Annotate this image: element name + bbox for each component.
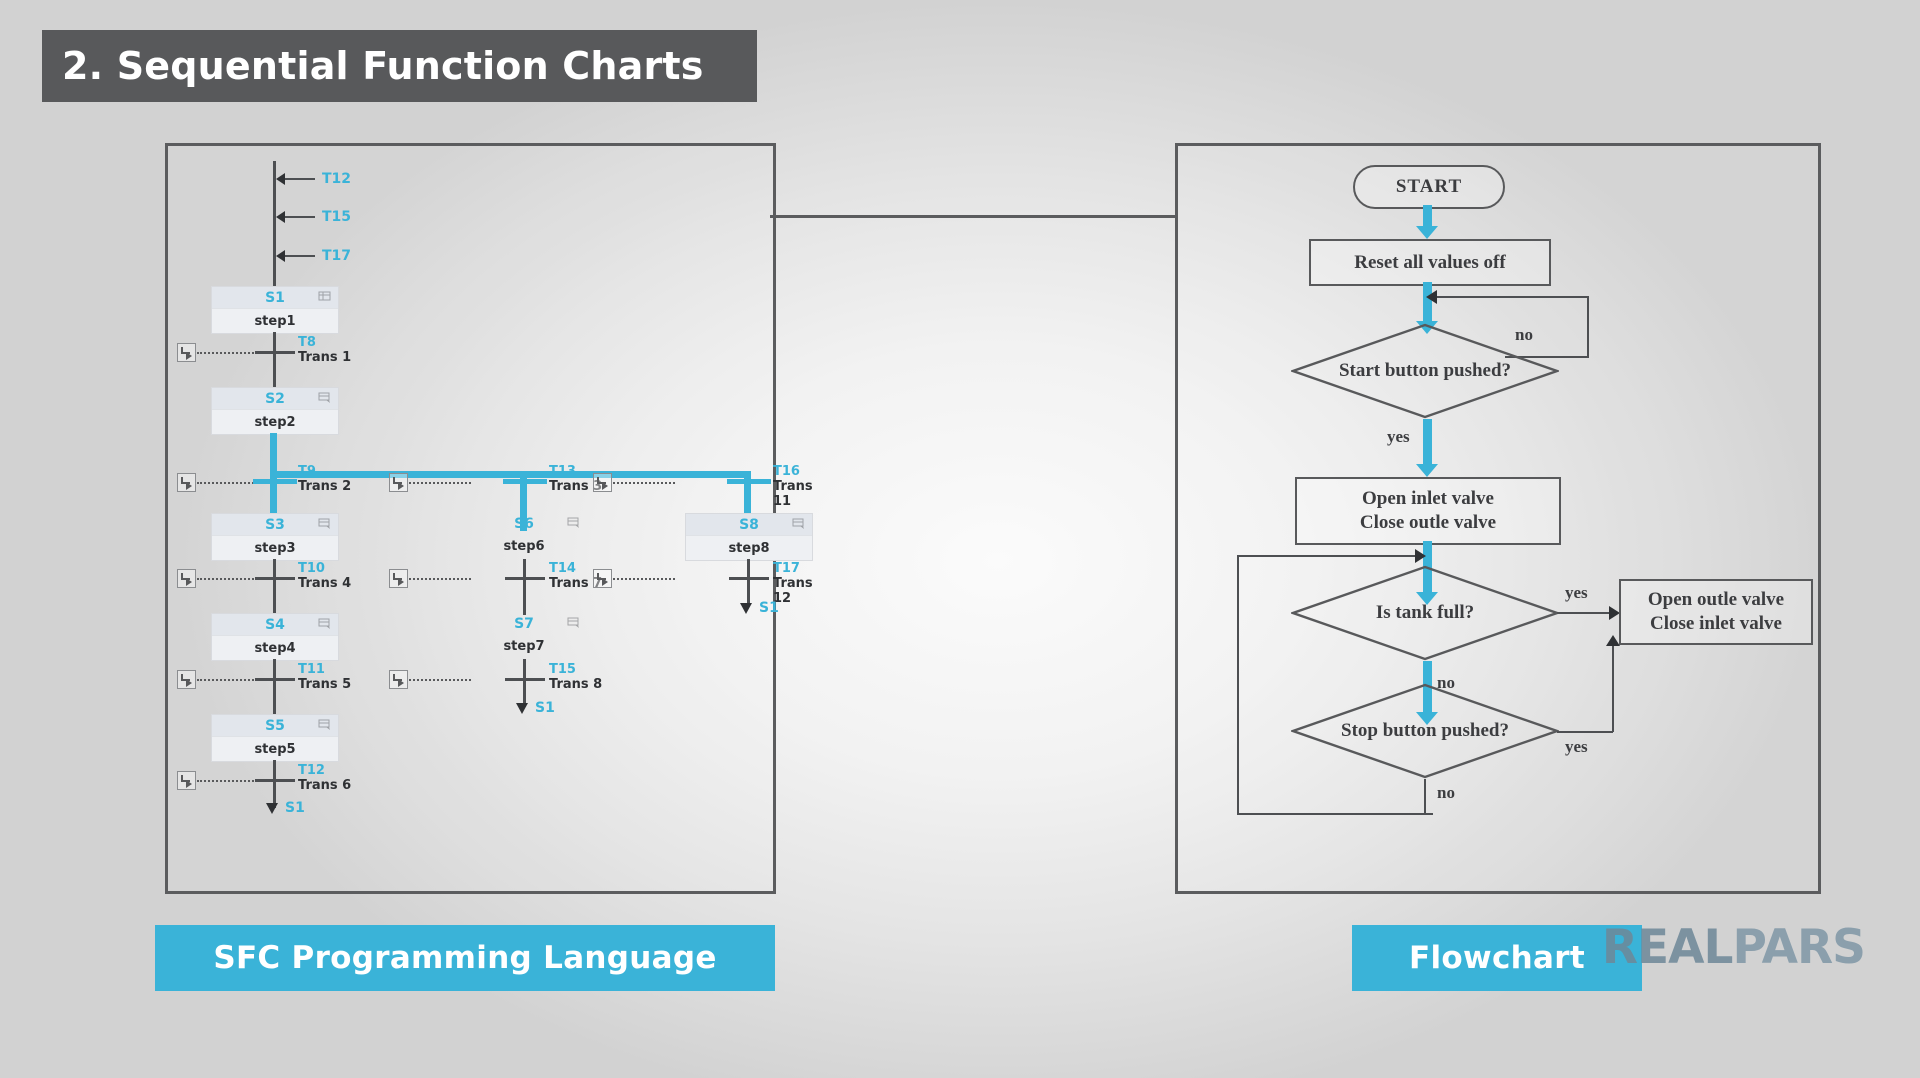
step-id: S6	[514, 516, 534, 532]
sfc-incoming-T17: T17	[276, 248, 351, 264]
sfc-step-S7[interactable]: S7 step7	[461, 613, 587, 658]
arrow-head-icon	[276, 211, 285, 223]
transition-label-T12: T12 Trans 6	[298, 764, 351, 793]
node-label: Reset all values off	[1354, 251, 1505, 275]
step-body: step4	[212, 635, 338, 660]
step-name: step1	[254, 314, 295, 329]
step-header: S2	[212, 388, 338, 409]
flow-node-open-outlet[interactable]: Open outle valve Close inlet valve	[1619, 579, 1813, 645]
step-id: S5	[265, 718, 285, 734]
sfc-incoming-T12: T12	[276, 171, 351, 187]
sfc-step-S1[interactable]: S1 step1	[211, 286, 339, 334]
transition-code: T16	[773, 465, 813, 479]
sfc-step-S8[interactable]: S8 step8	[685, 513, 813, 561]
transition-name: Trans 6	[298, 778, 351, 793]
flow-arrow-start-to-reset	[1423, 205, 1432, 227]
node-label: START	[1396, 176, 1462, 198]
transition-code: T12	[298, 764, 351, 778]
panel-connector-line	[770, 215, 1178, 218]
transition-label-T17: T17 Trans 12	[773, 562, 813, 606]
arrow-down-icon	[740, 603, 752, 614]
sfc-rail-t8-s2	[273, 352, 276, 389]
transition-bar-T16	[727, 479, 771, 484]
sfc-rail-t11-s5	[273, 679, 276, 716]
realpars-logo: REALPARS	[1602, 920, 1865, 975]
transition-condition-line	[613, 482, 675, 484]
transition-code: T11	[298, 663, 351, 677]
flow-edge-stopbtn-no-v	[1424, 779, 1426, 815]
sfc-rail-t10-s4	[273, 578, 276, 615]
sfc-step-S5[interactable]: S5 step5	[211, 714, 339, 762]
step-header: S1	[212, 287, 338, 308]
transition-condition-line	[409, 482, 471, 484]
edge-label-stopbtn-yes: yes	[1565, 737, 1588, 757]
transition-code: T17	[773, 562, 813, 576]
step-header: S3	[212, 514, 338, 535]
step-name: step2	[254, 415, 295, 430]
incoming-transition-label: T12	[322, 171, 351, 187]
jump-box-icon[interactable]	[389, 670, 408, 689]
slide-title-bar: 2. Sequential Function Charts	[42, 30, 757, 102]
jump-box-icon[interactable]	[389, 473, 408, 492]
transition-code: T15	[549, 663, 602, 677]
step-header: S8	[686, 514, 812, 535]
transition-label-T15: T15 Trans 8	[549, 663, 602, 692]
step-name: step7	[503, 639, 544, 654]
transition-label-T16: T16 Trans 11	[773, 465, 813, 509]
step-body: step3	[212, 535, 338, 560]
jump-box-icon[interactable]	[593, 569, 612, 588]
arrow-head-icon	[276, 173, 285, 185]
sfc-return-S1-middle: S1	[516, 703, 555, 716]
sfc-return-S1-left: S1	[266, 803, 305, 816]
flow-node-stop-button-pushed[interactable]: Stop button pushed?	[1291, 683, 1559, 779]
flow-node-start-button-pushed[interactable]: Start button pushed?	[1291, 323, 1559, 419]
caption-label: Flowchart	[1409, 940, 1585, 976]
transition-bar-T13	[503, 479, 547, 484]
step-id: S8	[739, 517, 759, 533]
flow-edge-tankfull-yes-h	[1557, 612, 1617, 614]
jump-box-icon[interactable]	[177, 343, 196, 362]
transition-label-T10: T10 Trans 4	[298, 562, 351, 591]
flow-arrow-startbtn-yes	[1423, 419, 1432, 465]
step-id: S3	[265, 517, 285, 533]
step-action-icon	[318, 290, 332, 304]
sfc-diagram: T12 T15 T17 S1 step1 T8 Trans 1 S2 step2	[165, 143, 770, 888]
edge-label-stopbtn-no: no	[1437, 783, 1455, 803]
step-id: S2	[265, 391, 285, 407]
step-header: S6	[461, 513, 587, 534]
step-body: step8	[686, 535, 812, 560]
page-title: 2. Sequential Function Charts	[42, 44, 704, 88]
return-step-label: S1	[759, 600, 779, 616]
step-body: step7	[461, 634, 587, 658]
node-label-line1: Open outle valve	[1648, 588, 1784, 612]
step-id: S4	[265, 617, 285, 633]
step-action-icon	[318, 718, 332, 732]
flow-edge-stopbtn-yes-v	[1612, 643, 1614, 732]
transition-label-T9: T9 Trans 2	[298, 465, 351, 494]
sfc-step-S6[interactable]: S6 step6	[461, 513, 587, 558]
arrow-head-icon	[1426, 290, 1437, 304]
step-name: step5	[254, 742, 295, 757]
sfc-return-S1-right: S1	[740, 603, 779, 616]
sfc-caption-chip: SFC Programming Language	[155, 925, 775, 991]
edge-label-startbtn-yes: yes	[1387, 427, 1410, 447]
arrow-head-icon	[1606, 635, 1620, 646]
transition-condition-line	[409, 679, 471, 681]
arrow-shaft	[285, 178, 315, 180]
caption-label: SFC Programming Language	[213, 940, 716, 976]
step-name: step8	[728, 541, 769, 556]
step-name: step4	[254, 641, 295, 656]
step-action-icon	[792, 517, 806, 531]
step-header: S7	[461, 613, 587, 634]
arrow-down-icon	[266, 803, 278, 814]
arrow-head-icon	[1415, 549, 1426, 563]
step-action-icon	[318, 517, 332, 531]
jump-box-icon[interactable]	[177, 771, 196, 790]
flow-edge-stopbtn-yes-h	[1557, 731, 1613, 733]
logo-part-2: PARS	[1732, 920, 1865, 975]
edge-label-tankfull-yes: yes	[1565, 583, 1588, 603]
flow-edge-stopbtn-no-h	[1237, 813, 1433, 815]
node-label-line2: Close outle valve	[1360, 511, 1496, 535]
sfc-rail-t14-s7	[523, 578, 526, 615]
flowchart-caption-chip: Flowchart	[1352, 925, 1642, 991]
flowchart-diagram: START Reset all values off no Start butt…	[1175, 143, 1815, 888]
arrow-down-icon	[516, 703, 528, 714]
step-id: S1	[265, 290, 285, 306]
sfc-incoming-T15: T15	[276, 209, 351, 225]
arrow-shaft	[285, 255, 315, 257]
step-name: step6	[503, 539, 544, 554]
jump-box-icon[interactable]	[389, 569, 408, 588]
flow-node-open-inlet[interactable]: Open inlet valve Close outle valve	[1295, 477, 1561, 545]
arrow-head-icon	[276, 250, 285, 262]
step-header: S4	[212, 614, 338, 635]
transition-code: T8	[298, 336, 351, 350]
node-label-line1: Open inlet valve	[1362, 487, 1494, 511]
step-body: step2	[212, 409, 338, 434]
transition-name: Trans 2	[298, 479, 351, 494]
flow-node-is-tank-full[interactable]: Is tank full?	[1291, 565, 1559, 661]
transition-name: Trans 4	[298, 576, 351, 591]
step-name: step3	[254, 541, 295, 556]
step-id: S7	[514, 616, 534, 632]
flow-edge-startbtn-no-h-top	[1437, 296, 1589, 298]
transition-name: Trans 5	[298, 677, 351, 692]
flow-edge-loopback-h	[1237, 555, 1424, 557]
step-action-icon	[567, 616, 581, 630]
step-header: S5	[212, 715, 338, 736]
sfc-step-S3[interactable]: S3 step3	[211, 513, 339, 561]
logo-part-1: REAL	[1602, 920, 1733, 975]
transition-label-T8: T8 Trans 1	[298, 336, 351, 365]
jump-box-icon[interactable]	[177, 473, 196, 492]
transition-condition-line	[613, 578, 675, 580]
jump-box-icon[interactable]	[593, 473, 612, 492]
incoming-transition-label: T15	[322, 209, 351, 225]
transition-name: Trans 8	[549, 677, 602, 692]
jump-box-icon[interactable]	[177, 569, 196, 588]
step-action-icon	[318, 391, 332, 405]
transition-bar-T9	[253, 479, 297, 484]
node-label: Start button pushed?	[1339, 360, 1511, 382]
transition-name: Trans 11	[773, 479, 813, 509]
step-body: step1	[212, 308, 338, 333]
sfc-step-S2[interactable]: S2 step2	[211, 387, 339, 435]
transition-code: T10	[298, 562, 351, 576]
arrow-shaft	[285, 216, 315, 218]
step-body: step5	[212, 736, 338, 761]
flow-node-reset[interactable]: Reset all values off	[1309, 239, 1551, 286]
return-step-label: S1	[285, 800, 305, 816]
sfc-rail-t17-return	[747, 578, 750, 606]
node-label: Is tank full?	[1376, 602, 1474, 624]
transition-name: Trans 1	[298, 350, 351, 365]
flow-node-start[interactable]: START	[1353, 165, 1505, 209]
transition-code: T9	[298, 465, 351, 479]
node-label-line2: Close inlet valve	[1650, 612, 1782, 636]
incoming-transition-label: T17	[322, 248, 351, 264]
flow-edge-startbtn-no-v	[1587, 296, 1589, 358]
transition-label-T11: T11 Trans 5	[298, 663, 351, 692]
step-action-icon	[318, 617, 332, 631]
sfc-step-S4[interactable]: S4 step4	[211, 613, 339, 661]
return-step-label: S1	[535, 700, 555, 716]
transition-name: Trans 12	[773, 576, 813, 606]
flow-edge-loopback-v	[1237, 555, 1239, 815]
transition-condition-line	[409, 578, 471, 580]
node-label: Stop button pushed?	[1341, 720, 1509, 742]
step-action-icon	[567, 516, 581, 530]
step-body: step6	[461, 534, 587, 558]
jump-box-icon[interactable]	[177, 670, 196, 689]
